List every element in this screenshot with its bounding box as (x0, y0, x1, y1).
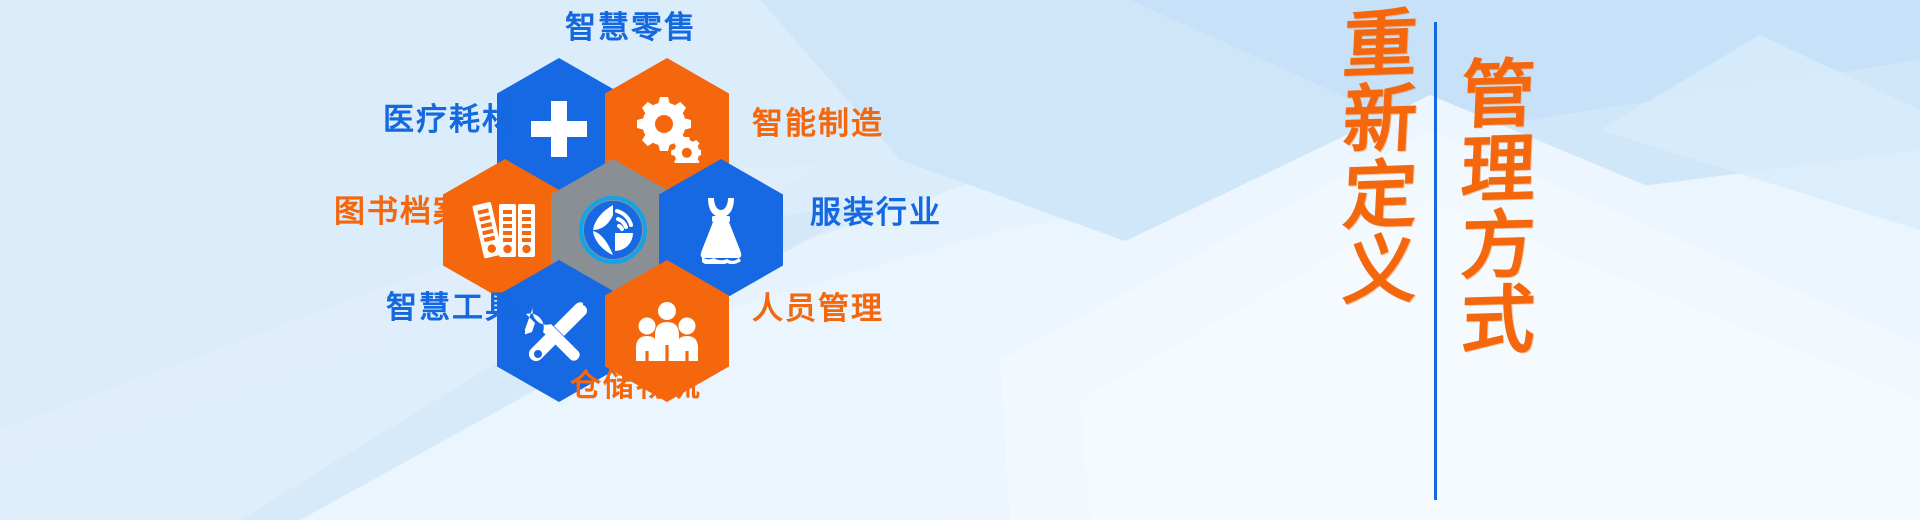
calligraphy-char: 重 (1341, 7, 1419, 85)
hexagon-label-people: 人员管理 (752, 293, 884, 324)
label-text: 智慧工具 (386, 290, 518, 325)
people-group-icon (633, 301, 701, 361)
binders-icon (472, 197, 538, 263)
calligraphy-divider-line (1434, 22, 1437, 500)
brand-logo-icon (576, 193, 650, 267)
calligraphy-char: 管 (1459, 57, 1536, 134)
label-text: 服装行业 (810, 195, 942, 230)
label-text: 智能制造 (752, 106, 884, 141)
label-text: 人员管理 (752, 291, 884, 326)
calligraphy-block: 重 新 定 义 管 理 方 式 (1330, 0, 1590, 520)
hexagon-label-archive: 图书档案 (334, 196, 466, 227)
dress-icon (690, 196, 752, 264)
hexagon-label-retail: 智慧零售 (565, 12, 697, 43)
calligraphy-column-right: 管 理 方 式 (1448, 0, 1548, 520)
calligraphy-char: 定 (1341, 158, 1419, 236)
calligraphy-column-left: 重 新 定 义 (1330, 0, 1430, 520)
calligraphy-char: 理 (1459, 133, 1536, 210)
calligraphy-char: 式 (1459, 283, 1536, 360)
wrench-screwdriver-icon (525, 297, 593, 365)
background-graphic (0, 0, 1920, 520)
calligraphy-char: 方 (1459, 208, 1536, 285)
calligraphy-char: 义 (1341, 233, 1419, 311)
calligraphy-char: 新 (1341, 82, 1419, 160)
hexagon-label-medical: 医疗耗材 (383, 104, 515, 135)
label-text: 图书档案 (334, 194, 466, 229)
label-text: 仓储物流 (570, 368, 702, 403)
label-text: 智慧零售 (565, 10, 697, 45)
gears-icon (633, 95, 701, 163)
hexagon-label-manufacture: 智能制造 (752, 108, 884, 139)
hexagon-label-apparel: 服装行业 (810, 197, 942, 228)
hexagon-label-logistics: 仓储物流 (570, 370, 702, 401)
hexagon-label-tools: 智慧工具 (386, 292, 518, 323)
medical-cross-icon (527, 97, 591, 161)
label-text: 医疗耗材 (383, 102, 515, 137)
banner-root: 智慧零售 医疗耗材 智能制造 图书档案 服装行业 智慧工具 人员管理 仓储物流 … (0, 0, 1920, 520)
